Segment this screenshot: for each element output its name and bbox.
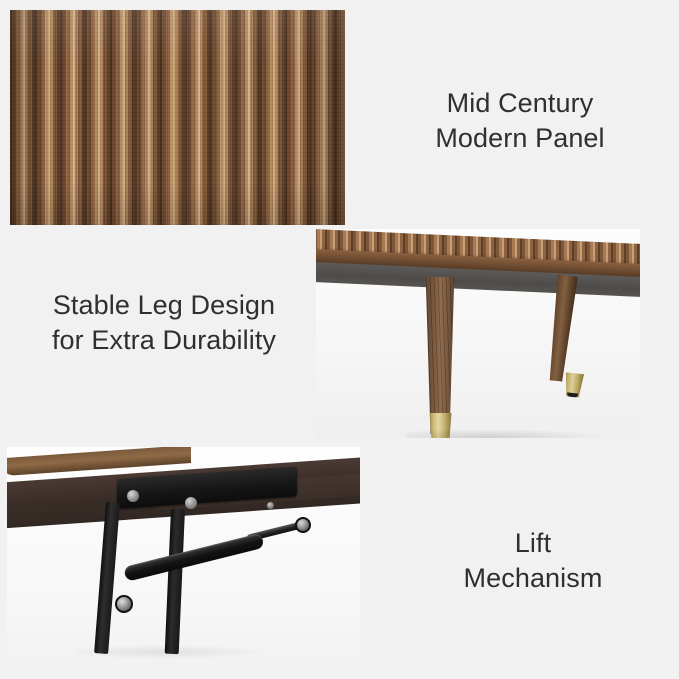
- callout-line-2: for Extra Durability: [8, 323, 320, 358]
- callout-line-2: Mechanism: [400, 561, 666, 596]
- lift-floor-shadow: [77, 645, 267, 659]
- lift-mechanism-panel-image: [7, 447, 360, 665]
- callout-lift-mechanism: Lift Mechanism: [400, 526, 666, 595]
- callout-stable-leg-design: Stable Leg Design for Extra Durability: [8, 288, 320, 357]
- callout-line-1: Mid Century: [370, 86, 670, 121]
- strut-pivot-joint: [295, 517, 311, 533]
- callout-line-2: Modern Panel: [370, 121, 670, 156]
- bracket-bolt-icon: [267, 502, 274, 509]
- legs-floor-shadow: [406, 429, 606, 438]
- tapered-legs-panel-image: [316, 229, 640, 438]
- callout-mid-century-modern-panel: Mid Century Modern Panel: [370, 86, 670, 155]
- feature-collage: Mid Century Modern Panel Stable Leg Desi…: [0, 0, 679, 679]
- callout-line-1: Lift: [400, 526, 666, 561]
- panel-shading-overlay: [10, 10, 345, 225]
- fluted-wood-panel-image: [10, 10, 345, 225]
- strut-pivot-joint: [115, 595, 133, 613]
- bracket-bolt-icon: [127, 490, 139, 502]
- callout-line-1: Stable Leg Design: [8, 288, 320, 323]
- bracket-bolt-icon: [185, 497, 197, 509]
